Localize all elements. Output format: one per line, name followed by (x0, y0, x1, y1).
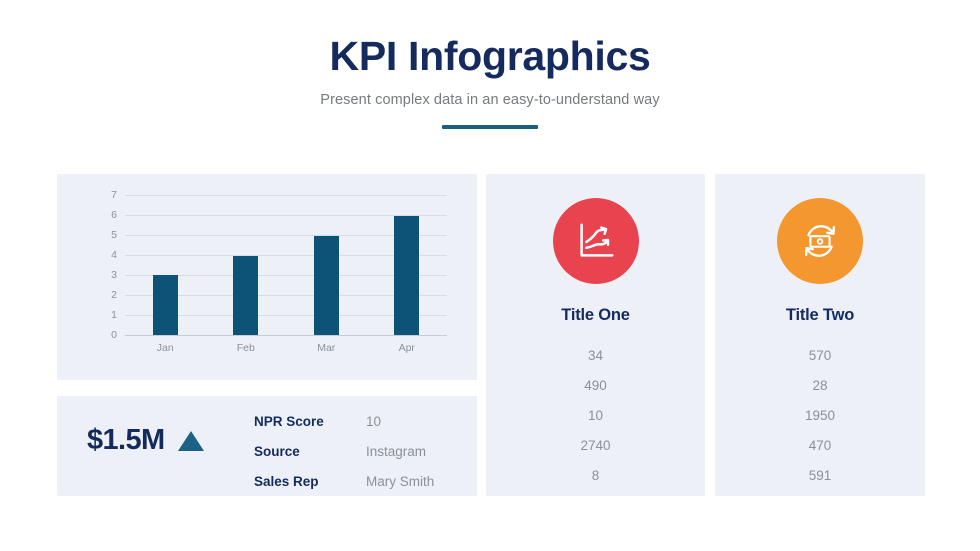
chart-x-axis (125, 335, 447, 336)
chart-bar-slot (125, 196, 206, 335)
chart-x-tick-labels: JanFebMarApr (125, 342, 447, 354)
kpi-value: 490 (486, 371, 705, 401)
chart-y-tick-label: 6 (111, 209, 117, 221)
stats-detail-list: NPR Score10SourceInstagramSales RepMary … (254, 414, 464, 504)
page-title: KPI Infographics (0, 34, 980, 80)
summary-stats-card: $1.5M NPR Score10SourceInstagramSales Re… (57, 396, 477, 496)
chart-bar-feb (233, 256, 258, 335)
headline-metric-value: $1.5M (87, 424, 165, 457)
slide-canvas: KPI Infographics Present complex data in… (0, 0, 980, 551)
chart-y-tick-label: 0 (111, 329, 117, 341)
growth-chart-icon (573, 218, 619, 264)
title-underline-accent (442, 125, 538, 129)
kpi-card-two-title: Title Two (715, 306, 925, 325)
chart-y-tick-label: 1 (111, 309, 117, 321)
stats-row-value: Instagram (366, 444, 426, 459)
chart-y-tick-label: 3 (111, 269, 117, 281)
kpi-value: 34 (486, 341, 705, 371)
stats-row-label: Sales Rep (254, 474, 366, 489)
chart-x-label: Jan (125, 342, 206, 354)
stats-row: SourceInstagram (254, 444, 464, 474)
headline-metric: $1.5M (87, 424, 204, 457)
chart-x-label: Feb (206, 342, 287, 354)
chart-y-tick-label: 5 (111, 229, 117, 241)
kpi-card-one-content: Title One 344901027408 (486, 198, 705, 491)
chart-bar-apr (394, 216, 419, 335)
kpi-value: 8 (486, 461, 705, 491)
chart-plot-area: 76543210 (125, 196, 447, 336)
chart-bar-slot (286, 196, 367, 335)
bar-chart: 76543210 (97, 196, 447, 336)
page-subtitle: Present complex data in an easy-to-under… (0, 92, 980, 108)
chart-bars (125, 196, 447, 335)
triangle-up-icon (178, 431, 204, 451)
kpi-value: 2740 (486, 431, 705, 461)
chart-bar-slot (367, 196, 448, 335)
kpi-value: 591 (715, 461, 925, 491)
kpi-value: 470 (715, 431, 925, 461)
kpi-value: 10 (486, 401, 705, 431)
money-refresh-icon-badge (777, 198, 863, 284)
kpi-card-two-content: Title Two 570281950470591 (715, 198, 925, 491)
kpi-card-one-values: 344901027408 (486, 341, 705, 491)
kpi-value: 570 (715, 341, 925, 371)
kpi-value: 28 (715, 371, 925, 401)
chart-x-label: Mar (286, 342, 367, 354)
stats-row-label: Source (254, 444, 366, 459)
chart-y-tick-label: 2 (111, 289, 117, 301)
chart-bar-jan (153, 275, 178, 335)
growth-chart-icon-badge (553, 198, 639, 284)
chart-x-label: Apr (367, 342, 448, 354)
kpi-card-one-title: Title One (486, 306, 705, 325)
stats-row-label: NPR Score (254, 414, 366, 429)
bar-chart-card: 76543210 JanFebMarApr (57, 174, 477, 380)
money-refresh-icon (797, 218, 843, 264)
kpi-card-title-two: Title Two 570281950470591 (715, 174, 925, 496)
stats-row: Sales RepMary Smith (254, 474, 464, 504)
chart-y-tick-label: 7 (111, 189, 117, 201)
stats-row-value: Mary Smith (366, 474, 434, 489)
stats-row: NPR Score10 (254, 414, 464, 444)
chart-bar-slot (206, 196, 287, 335)
slide-header: KPI Infographics Present complex data in… (0, 34, 980, 129)
kpi-card-two-values: 570281950470591 (715, 341, 925, 491)
chart-y-tick-label: 4 (111, 249, 117, 261)
stats-row-value: 10 (366, 414, 381, 429)
chart-bar-mar (314, 236, 339, 335)
kpi-value: 1950 (715, 401, 925, 431)
kpi-card-title-one: Title One 344901027408 (486, 174, 705, 496)
